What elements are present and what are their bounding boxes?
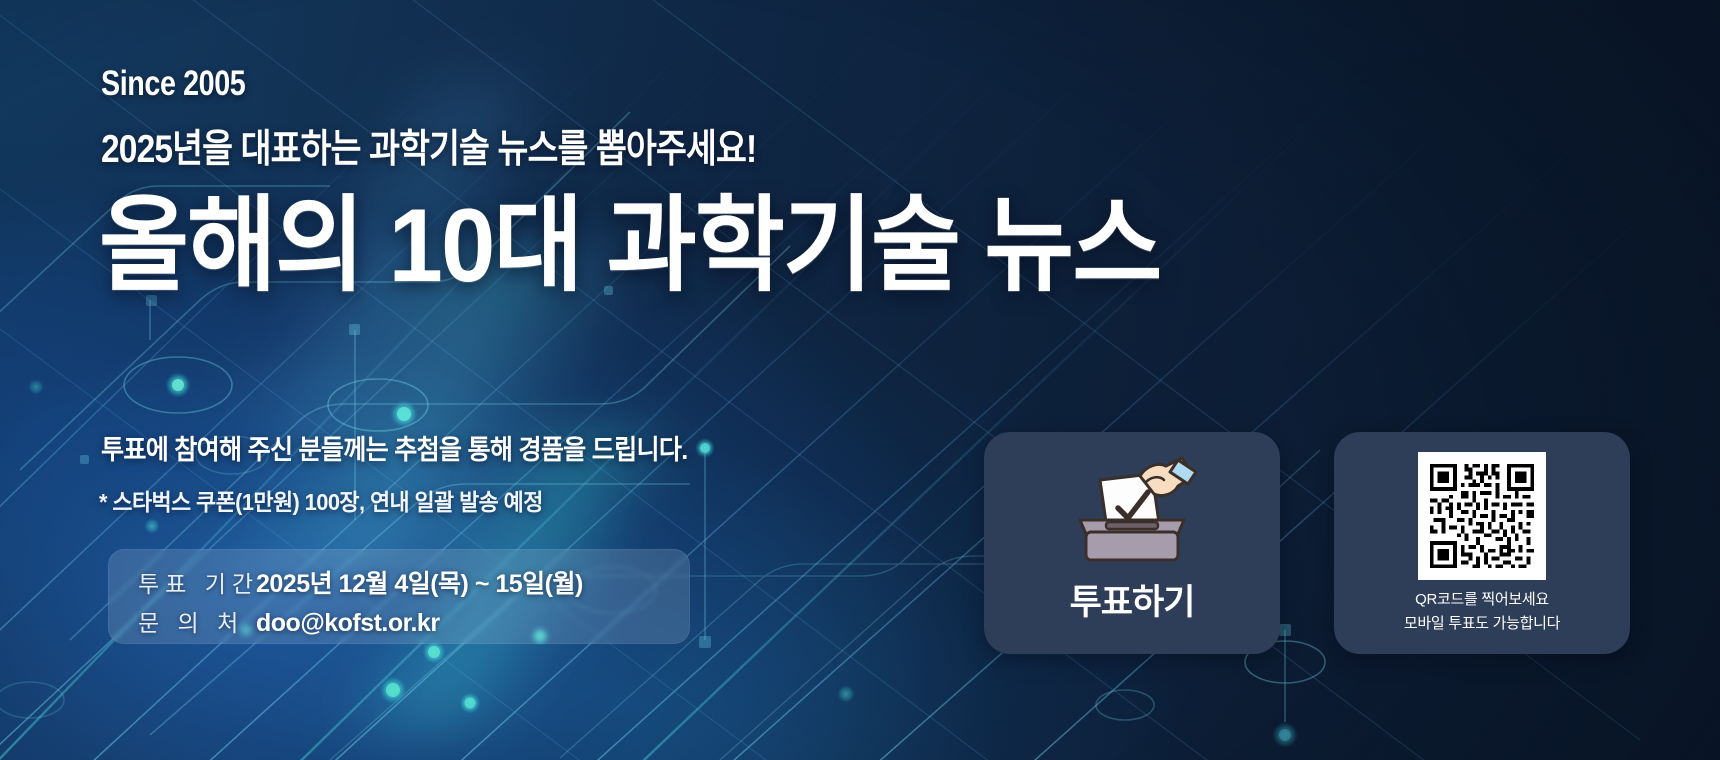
voting-period-label: 투표 기간 [138, 565, 256, 599]
voting-period-value: 2025년 12월 4일(목) ~ 15일(월) [256, 564, 583, 600]
qr-caption-line-2: 모바일 투표도 가능합니다 [1334, 612, 1630, 636]
qr-caption: QR코드를 찍어보세요 모바일 투표도 가능합니다 [1334, 588, 1630, 636]
qr-code-icon [1426, 460, 1538, 572]
ballot-box-icon [1066, 450, 1198, 562]
promo-text: 투표에 참여해 주신 분들께는 추첨을 통해 경품을 드립니다. [101, 428, 687, 467]
banner-content: Since 2005 2025년을 대표하는 과학기술 뉴스를 뽑아주세요! 올… [0, 0, 1720, 760]
contact-label: 문 의 처 [138, 604, 256, 638]
qr-caption-line-1: QR코드를 찍어보세요 [1334, 588, 1630, 612]
event-banner: Since 2005 2025년을 대표하는 과학기술 뉴스를 뽑아주세요! 올… [0, 0, 1720, 760]
page-title: 올해의 10대 과학기술 뉴스 [99, 190, 1160, 302]
qr-code-card[interactable]: QR코드를 찍어보세요 모바일 투표도 가능합니다 [1334, 432, 1630, 654]
since-label: Since 2005 [101, 64, 245, 104]
vote-button-label: 투표하기 [984, 574, 1280, 625]
event-info-box: 투표 기간 2025년 12월 4일(목) ~ 15일(월) 문 의 처 doo… [108, 549, 690, 644]
vote-button-card[interactable]: 투표하기 [984, 432, 1280, 654]
voting-period-row: 투표 기간 2025년 12월 4일(목) ~ 15일(월) [138, 564, 583, 600]
contact-email-value: doo@kofst.or.kr [256, 609, 440, 638]
prize-note: * 스타벅스 쿠폰(1만원) 100장, 연내 일괄 발송 예정 [99, 483, 543, 517]
qr-code-frame [1418, 452, 1546, 580]
contact-row: 문 의 처 doo@kofst.or.kr [138, 604, 440, 638]
subheadline: 2025년을 대표하는 과학기술 뉴스를 뽑아주세요! [101, 118, 756, 174]
